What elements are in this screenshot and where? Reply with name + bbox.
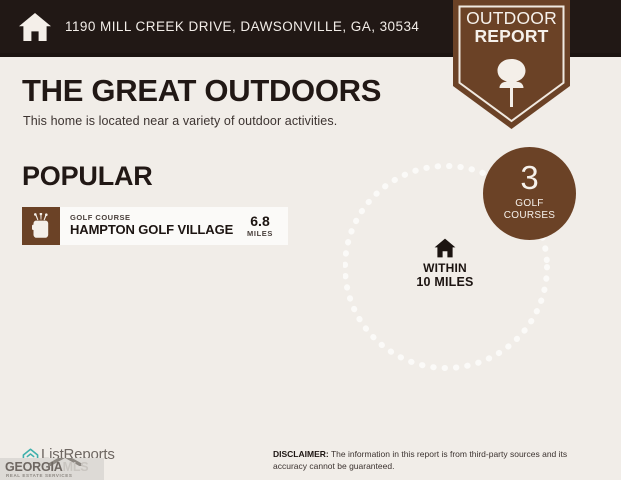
- map-center-marker: WITHIN 10 MILES: [396, 238, 494, 290]
- mls-wordmark: GEORGIAMLS: [5, 461, 88, 474]
- list-item-texts: GOLF COURSE HAMPTON GOLF VILLAGE: [60, 207, 232, 245]
- section-title-popular: POPULAR: [22, 161, 153, 192]
- count-label-line1: GOLF: [515, 198, 543, 210]
- pennant-shape: [453, 0, 570, 129]
- outdoor-report-page: 1190 MILL CREEK DRIVE, DAWSONVILLE, GA, …: [0, 0, 621, 480]
- page-title: THE GREAT OUTDOORS: [22, 73, 381, 109]
- distance-value: 6.8: [250, 214, 269, 229]
- distance-unit: MILES: [247, 229, 273, 238]
- mls-name-part2: MLS: [63, 460, 89, 474]
- list-item-distance: 6.8 MILES: [232, 207, 288, 245]
- count-label-line2: COURSES: [504, 210, 556, 222]
- list-item-name: HAMPTON GOLF VILLAGE: [70, 223, 232, 238]
- list-item[interactable]: GOLF COURSE HAMPTON GOLF VILLAGE 6.8 MIL…: [22, 207, 288, 245]
- count-value: 3: [520, 162, 538, 193]
- golf-bag-glyph: [29, 213, 53, 239]
- golf-courses-count-badge: 3 GOLF COURSES: [483, 147, 576, 240]
- mls-name-part1: GEORGIA: [5, 460, 63, 474]
- georgia-mls-logo: GEORGIAMLS REAL ESTATE SERVICES: [0, 458, 104, 480]
- disclaimer-label: DISCLAIMER:: [273, 449, 329, 459]
- home-icon: [18, 12, 52, 42]
- home-pin-icon: [434, 238, 456, 258]
- property-address: 1190 MILL CREEK DRIVE, DAWSONVILLE, GA, …: [65, 19, 419, 34]
- map-center-label-line1: WITHIN: [396, 261, 494, 275]
- golf-bag-icon: [22, 207, 60, 245]
- outdoor-report-badge: OUTDOOR REPORT: [453, 0, 570, 129]
- map-center-label-line2: 10 MILES: [396, 275, 494, 290]
- page-subtitle: This home is located near a variety of o…: [23, 114, 337, 128]
- mls-tagline: REAL ESTATE SERVICES: [6, 473, 72, 478]
- disclaimer: DISCLAIMER: The information in this repo…: [273, 448, 595, 473]
